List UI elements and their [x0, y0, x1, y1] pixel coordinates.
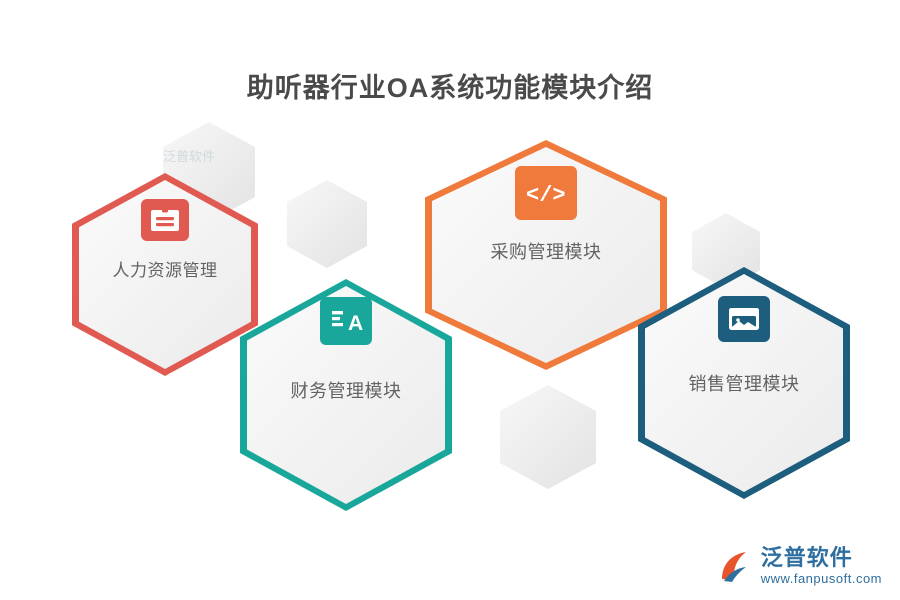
id-card-icon: [141, 199, 189, 241]
module-label-sales: 销售管理模块: [638, 370, 850, 396]
decorative-hexagon-center-top: [287, 180, 367, 268]
svg-text:A: A: [348, 312, 363, 335]
page-title: 助听器行业OA系统功能模块介绍: [0, 66, 900, 105]
module-label-hr: 人力资源管理: [72, 256, 258, 281]
brand-text: 泛普软件 www.fanpusoft.com: [761, 546, 882, 585]
image-card-icon: [718, 296, 770, 342]
watermark-text: 泛普软件: [163, 146, 215, 165]
brand-mark-icon: [715, 546, 755, 586]
brand-name: 泛普软件: [761, 546, 853, 570]
diagram-canvas: 助听器行业OA系统功能模块介绍 泛普软件 人力资源管理 A 财务管理模块: [0, 0, 900, 600]
svg-text:</>: </>: [526, 183, 566, 207]
brand-url: www.fanpusoft.com: [761, 571, 882, 586]
brand-logo: 泛普软件 www.fanpusoft.com: [715, 546, 882, 586]
translate-icon: A: [320, 297, 372, 345]
module-label-purchase: 采购管理模块: [425, 238, 667, 264]
code-brackets-icon: </>: [515, 166, 577, 220]
module-label-finance: 财务管理模块: [240, 377, 452, 403]
decorative-hexagon-bottom-center: [500, 385, 596, 489]
